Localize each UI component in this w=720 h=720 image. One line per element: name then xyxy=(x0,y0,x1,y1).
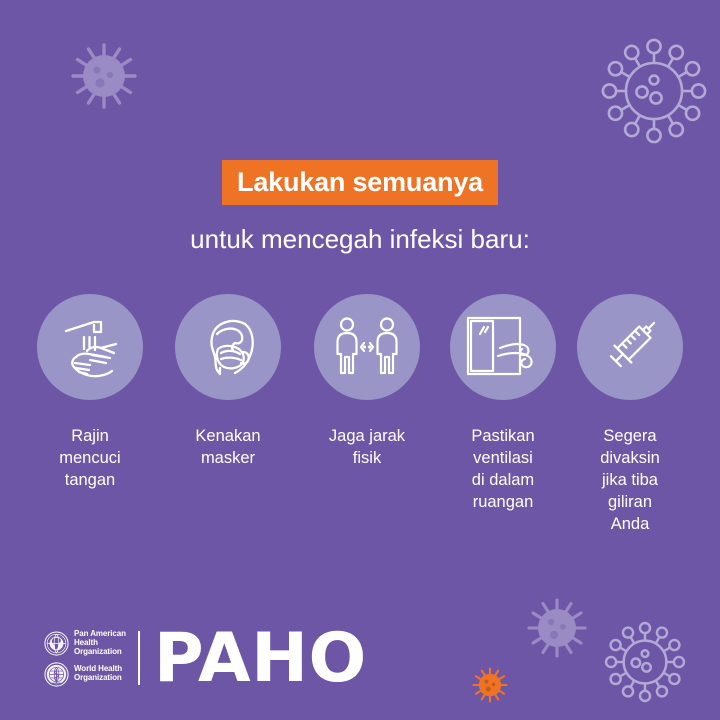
paho-globe-seal-icon xyxy=(44,631,69,656)
headline-banner: Lakukan semuanya xyxy=(222,160,498,205)
step-mask-circle xyxy=(175,294,281,400)
logo-divider xyxy=(138,631,140,685)
infographic-poster: Lakukan semuanya untuk mencegah infeksi … xyxy=(0,0,720,720)
step-vaccine-caption: Segera divaksin jika tiba giliran Anda xyxy=(600,426,660,536)
step-mask: Kenakan masker xyxy=(158,294,298,470)
step-ventilation: Pastikan ventilasi di dalam ruangan xyxy=(433,294,573,514)
prevention-steps-row: Rajin mencuci tangan xyxy=(0,294,720,594)
emblem-who-text: World Health Organization xyxy=(74,665,122,683)
emblem-who: World Health Organization xyxy=(44,662,126,687)
step-handwashing-circle xyxy=(37,294,143,400)
logo-emblems: Pan American Health Organization xyxy=(44,630,126,687)
emblem-paho-text: Pan American Health Organization xyxy=(74,630,126,657)
paho-wordmark: PAHO xyxy=(154,632,367,685)
step-mask-caption: Kenakan masker xyxy=(195,426,260,470)
face-mask-icon xyxy=(193,312,263,382)
step-handwashing: Rajin mencuci tangan xyxy=(20,294,160,492)
step-distancing-circle xyxy=(314,294,420,400)
virus-orange-small-icon xyxy=(470,665,510,705)
washing-hands-icon xyxy=(54,311,126,383)
step-vaccine: Segera divaksin jika tiba giliran Anda xyxy=(560,294,700,536)
step-handwashing-caption: Rajin mencuci tangan xyxy=(59,426,120,492)
paho-logo: Pan American Health Organization xyxy=(44,630,367,687)
step-ventilation-caption: Pastikan ventilasi di dalam ruangan xyxy=(471,426,534,514)
virus-bottom-mid-icon xyxy=(523,594,591,662)
virus-top-right-icon xyxy=(595,32,713,150)
syringe-icon xyxy=(594,311,666,383)
who-rod-of-asclepius-seal-icon xyxy=(44,662,69,687)
physical-distancing-icon xyxy=(331,315,403,379)
step-ventilation-circle xyxy=(450,294,556,400)
virus-top-left-icon xyxy=(66,38,142,114)
step-distancing-caption: Jaga jarak fisik xyxy=(329,426,405,470)
step-distancing: Jaga jarak fisik xyxy=(297,294,437,470)
virus-bottom-right-icon xyxy=(600,617,690,707)
headline-banner-text: Lakukan semuanya xyxy=(237,169,483,196)
step-vaccine-circle xyxy=(577,294,683,400)
emblem-paho: Pan American Health Organization xyxy=(44,630,126,657)
headline-subtitle: untuk mencegah infeksi baru: xyxy=(0,225,720,254)
open-window-ventilation-icon xyxy=(460,312,546,382)
